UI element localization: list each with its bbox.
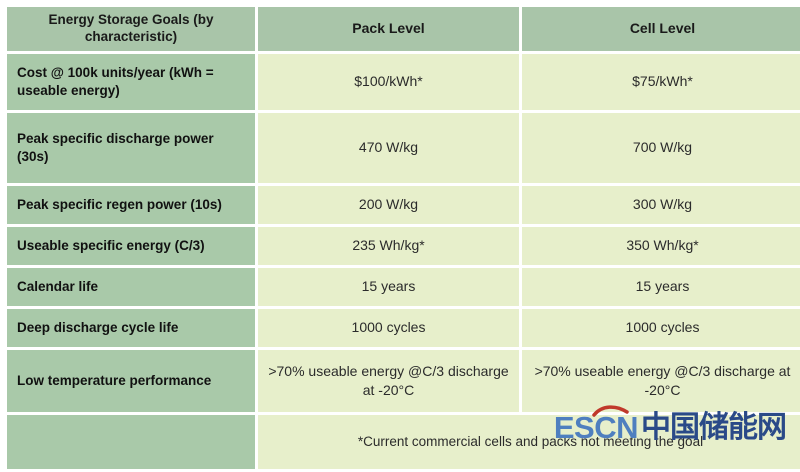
table-body: Cost @ 100k units/year (kWh = useable en…	[7, 54, 800, 469]
cell-regen-power-pack: 200 W/kg	[258, 186, 519, 224]
cell-discharge-power-cell: 700 W/kg	[522, 113, 800, 183]
cell-regen-power-cell: 300 W/kg	[522, 186, 800, 224]
table-footnote-row: *Current commercial cells and packs not …	[7, 415, 800, 469]
cell-discharge-power-pack: 470 W/kg	[258, 113, 519, 183]
row-label-cost: Cost @ 100k units/year (kWh = useable en…	[7, 54, 255, 110]
table-row: Deep discharge cycle life 1000 cycles 10…	[7, 309, 800, 347]
table-row: Useable specific energy (C/3) 235 Wh/kg*…	[7, 227, 800, 265]
table-row: Calendar life 15 years 15 years	[7, 268, 800, 306]
column-header-characteristic: Energy Storage Goals (by characteristic)	[7, 7, 255, 51]
cell-low-temperature-pack: >70% useable energy @C/3 discharge at -2…	[258, 350, 519, 412]
table-row: Peak specific regen power (10s) 200 W/kg…	[7, 186, 800, 224]
footnote-text: *Current commercial cells and packs not …	[258, 415, 800, 469]
cell-cycle-life-cell: 1000 cycles	[522, 309, 800, 347]
table-row: Cost @ 100k units/year (kWh = useable en…	[7, 54, 800, 110]
table-header-row: Energy Storage Goals (by characteristic)…	[7, 7, 800, 51]
table-row: Low temperature performance >70% useable…	[7, 350, 800, 412]
footnote-spacer-cell	[7, 415, 255, 469]
table-head: Energy Storage Goals (by characteristic)…	[7, 7, 800, 51]
row-label-cycle-life: Deep discharge cycle life	[7, 309, 255, 347]
cell-calendar-life-cell: 15 years	[522, 268, 800, 306]
row-label-regen-power: Peak specific regen power (10s)	[7, 186, 255, 224]
row-label-specific-energy: Useable specific energy (C/3)	[7, 227, 255, 265]
row-label-calendar-life: Calendar life	[7, 268, 255, 306]
row-label-discharge-power: Peak specific discharge power (30s)	[7, 113, 255, 183]
table-page: Energy Storage Goals (by characteristic)…	[0, 0, 800, 451]
row-label-low-temperature: Low temperature performance	[7, 350, 255, 412]
cell-calendar-life-pack: 15 years	[258, 268, 519, 306]
cell-cost-cell: $75/kWh*	[522, 54, 800, 110]
column-header-pack-level: Pack Level	[258, 7, 519, 51]
column-header-cell-level: Cell Level	[522, 7, 800, 51]
cell-low-temperature-cell: >70% useable energy @C/3 discharge at -2…	[522, 350, 800, 412]
cell-cost-pack: $100/kWh*	[258, 54, 519, 110]
table-row: Peak specific discharge power (30s) 470 …	[7, 113, 800, 183]
cell-cycle-life-pack: 1000 cycles	[258, 309, 519, 347]
energy-storage-goals-table: Energy Storage Goals (by characteristic)…	[4, 4, 800, 472]
cell-specific-energy-pack: 235 Wh/kg*	[258, 227, 519, 265]
cell-specific-energy-cell: 350 Wh/kg*	[522, 227, 800, 265]
